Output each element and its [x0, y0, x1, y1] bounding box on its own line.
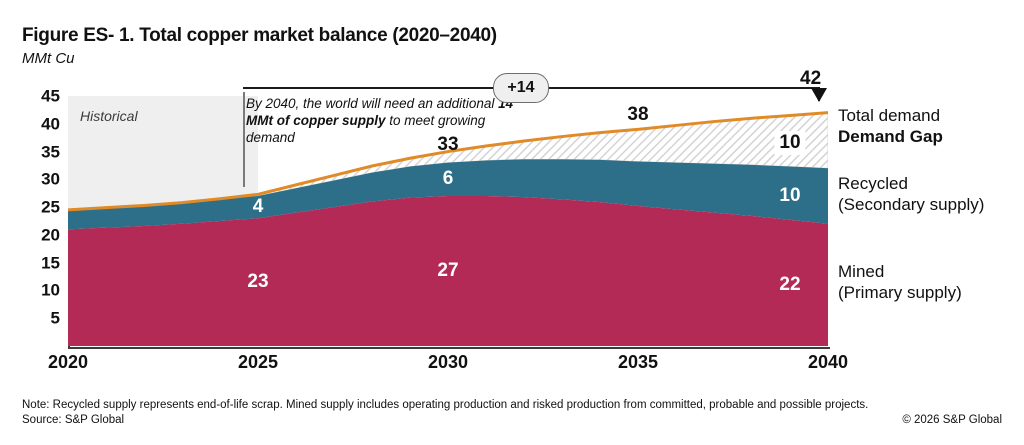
page-title: Figure ES- 1. Total copper market balanc… [22, 24, 822, 48]
footer-note: Note: Recycled supply represents end-of-… [22, 398, 1002, 413]
data-label: 6 [443, 168, 454, 190]
y-axis-tick: 25 [41, 199, 60, 216]
data-label: 10 [779, 185, 800, 207]
y-axis-tick: 20 [41, 226, 60, 243]
x-axis-tick: 2035 [618, 352, 658, 373]
footer: Note: Recycled supply represents end-of-… [22, 398, 1002, 428]
callout-divider [243, 92, 245, 187]
data-label: 22 [779, 274, 800, 296]
total-demand-2040-label: 42 [800, 68, 821, 90]
gap-arrow-icon [811, 88, 827, 102]
y-axis-tick: 45 [41, 88, 60, 105]
data-label: 38 [627, 104, 648, 126]
callout-annotation: By 2040, the world will need an addition… [246, 95, 516, 146]
y-axis-tick: 15 [41, 254, 60, 271]
callout-text-1: By 2040, the world will need an addition… [246, 96, 498, 111]
y-axis: 51015202530354045 [0, 96, 60, 346]
footer-row: Source: S&P Global © 2026 S&P Global [22, 413, 1002, 428]
footer-source: Source: S&P Global [22, 413, 124, 428]
x-axis-tick: 2040 [808, 352, 848, 373]
data-label: 27 [437, 260, 458, 282]
legend: Total demand Demand Gap Recycled (Second… [838, 105, 1024, 303]
historical-label: Historical [80, 108, 138, 124]
x-axis-tick: 2030 [428, 352, 468, 373]
gap-badge: +14 [493, 73, 549, 103]
legend-group-demand: Total demand Demand Gap [838, 105, 1024, 147]
y-axis-tick: 5 [51, 310, 60, 327]
y-axis-tick: 35 [41, 143, 60, 160]
y-axis-tick: 40 [41, 115, 60, 132]
data-label: 4 [253, 196, 264, 218]
data-label: 23 [247, 271, 268, 293]
legend-item-total-demand: Total demand [838, 105, 1024, 126]
data-label: 10 [774, 131, 805, 155]
y-axis-tick: 30 [41, 171, 60, 188]
chart-header: Figure ES- 1. Total copper market balanc… [22, 24, 822, 69]
y-axis-tick: 10 [41, 282, 60, 299]
legend-item-mined: Mined [838, 261, 1024, 282]
x-axis-line [68, 347, 830, 349]
legend-item-demand-gap: Demand Gap [838, 126, 1024, 147]
legend-item-recycled-sub: (Secondary supply) [838, 194, 1024, 215]
footer-copyright: © 2026 S&P Global [902, 413, 1002, 428]
legend-group-mined: Mined (Primary supply) [838, 261, 1024, 303]
x-axis-tick: 2020 [48, 352, 88, 373]
legend-item-mined-sub: (Primary supply) [838, 282, 1024, 303]
legend-item-recycled: Recycled [838, 173, 1024, 194]
x-axis-tick: 2025 [238, 352, 278, 373]
legend-group-recycled: Recycled (Secondary supply) [838, 173, 1024, 215]
x-axis: 20202025203020352040 [0, 352, 1024, 382]
chart-subtitle: MMt Cu [22, 49, 822, 69]
